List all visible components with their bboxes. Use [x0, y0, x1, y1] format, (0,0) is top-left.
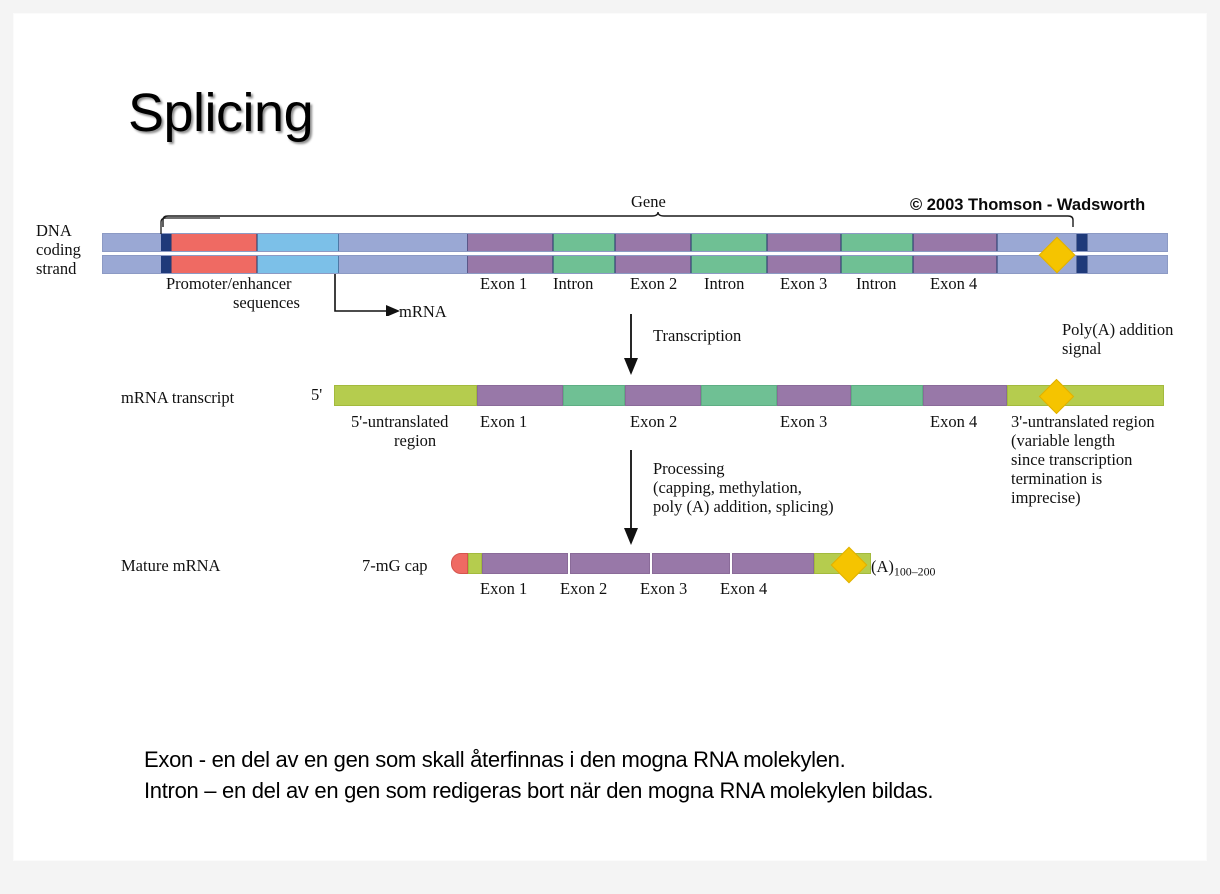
mrna-label-exon-3: Exon 3 — [780, 412, 827, 431]
polya-tail-subscript: 100–200 — [894, 564, 936, 578]
dna-segment-polya-bar — [1077, 233, 1087, 252]
mrna-segment-exon-2 — [625, 385, 701, 406]
dna-coding-strand-bottom — [102, 255, 1168, 274]
mature-label-exon-3: Exon 3 — [640, 579, 687, 598]
utr3-label-line1: 3'-untranslated region — [1011, 412, 1155, 431]
dna-label-intron-1: Intron — [553, 274, 593, 293]
dna-segment-promoter-b — [171, 255, 257, 274]
mrna-arrow-label: mRNA — [399, 302, 447, 321]
dna-segment-backbone-end-b — [1087, 255, 1168, 274]
polya-signal-label-line2: signal — [1062, 339, 1101, 358]
utr3-label-line5: imprecise) — [1011, 488, 1081, 507]
dna-segment-enhancer — [257, 233, 339, 252]
dna-segment-backbone-left — [103, 233, 161, 252]
mrna-label-exon-1: Exon 1 — [480, 412, 527, 431]
transcription-arrow — [622, 314, 644, 376]
dna-segment-exon-4-b — [913, 255, 997, 274]
mrna-segment-intron-3 — [851, 385, 923, 406]
dna-label-line2: coding — [36, 240, 81, 259]
slide-canvas: Splicing © 2003 Thomson - Wadsworth DNA … — [14, 14, 1206, 860]
dna-segment-exon-2 — [615, 233, 691, 252]
dna-segment-intron-1 — [553, 233, 615, 252]
dna-segment-exon-2-b — [615, 255, 691, 274]
promoter-label-line2: sequences — [233, 293, 300, 312]
five-prime-label: 5' — [311, 385, 322, 404]
mrna-label-exon-4: Exon 4 — [930, 412, 977, 431]
definition-intron: Intron – en del av en gen som redigeras … — [144, 778, 933, 804]
dna-segment-exon-3-b — [767, 255, 841, 274]
dna-label-line1: DNA — [36, 221, 72, 240]
transcription-label: Transcription — [653, 326, 741, 345]
promoter-label-line1: Promoter/enhancer — [166, 274, 292, 293]
dna-coding-strand-top — [102, 233, 1168, 252]
mrna-segment-exon-4 — [923, 385, 1007, 406]
dna-segment-exon-3 — [767, 233, 841, 252]
mrna-transcript-label: mRNA transcript — [121, 388, 234, 407]
dna-segment-enhancer-b — [257, 255, 339, 274]
dna-label-intron-2: Intron — [704, 274, 744, 293]
dna-label-exon-4: Exon 4 — [930, 274, 977, 293]
mrna-segment-exon-3 — [777, 385, 851, 406]
dna-segment-intron-2-b — [691, 255, 767, 274]
dna-label-line3: strand — [36, 259, 76, 278]
utr3-label-line4: termination is — [1011, 469, 1102, 488]
promoter-bracket — [160, 216, 338, 234]
mature-mrna-label: Mature mRNA — [121, 556, 220, 575]
mrna-segment-intron-2 — [701, 385, 777, 406]
dna-segment-transcription-start — [161, 233, 171, 252]
mature-label-exon-1: Exon 1 — [480, 579, 527, 598]
dna-segment-exon-1-b — [467, 255, 553, 274]
dna-label-exon-3: Exon 3 — [780, 274, 827, 293]
dna-segment-exon-1 — [467, 233, 553, 252]
mrna-segment-intron-1 — [563, 385, 625, 406]
cap-label: 7-mG cap — [362, 556, 428, 575]
mature-segment-exon-1 — [482, 553, 568, 574]
utr3-label-line2: (variable length — [1011, 431, 1115, 450]
mrna-segment-exon-1 — [477, 385, 563, 406]
definition-exon: Exon - en del av en gen som skall återfi… — [144, 747, 845, 773]
processing-label-line2: (capping, methylation, — [653, 478, 802, 497]
polya-signal-label-line1: Poly(A) addition — [1062, 320, 1173, 339]
page-title: Splicing — [128, 82, 313, 144]
processing-arrow — [622, 450, 644, 546]
dna-label-exon-2: Exon 2 — [630, 274, 677, 293]
mature-label-exon-4: Exon 4 — [720, 579, 767, 598]
dna-segment-intron-3-b — [841, 255, 913, 274]
mature-segment-cap-green — [468, 553, 482, 574]
dna-segment-intron-3 — [841, 233, 913, 252]
utr3-label-line3: since transcription — [1011, 450, 1132, 469]
gene-bracket-label: Gene — [631, 192, 666, 211]
mrna-segment-3utr — [1007, 385, 1164, 406]
mrna-label-exon-2: Exon 2 — [630, 412, 677, 431]
mature-segment-exon-3 — [652, 553, 730, 574]
dna-segment-intron-2 — [691, 233, 767, 252]
mrna-segment-5utr — [334, 385, 477, 406]
dna-label-intron-3: Intron — [856, 274, 896, 293]
dna-segment-exon-4 — [913, 233, 997, 252]
polya-tail-text: (A) — [871, 557, 894, 576]
dna-segment-polya-bar-b — [1077, 255, 1087, 274]
polya-tail-label: (A)100–200 — [871, 557, 935, 578]
utr5-label-line2: region — [394, 431, 436, 450]
dna-segment-intron-1-b — [553, 255, 615, 274]
processing-label-line3: poly (A) addition, splicing) — [653, 497, 834, 516]
dna-label-exon-1: Exon 1 — [480, 274, 527, 293]
mature-segment-exon-2 — [570, 553, 650, 574]
dna-segment-backbone-end — [1087, 233, 1168, 252]
processing-label-line1: Processing — [653, 459, 725, 478]
mature-label-exon-2: Exon 2 — [560, 579, 607, 598]
mature-segment-exon-4 — [732, 553, 814, 574]
dna-segment-backbone-left-b — [103, 255, 161, 274]
mature-mrna-bar — [451, 553, 871, 574]
dna-segment-transcription-start-b — [161, 255, 171, 274]
dna-segment-promoter — [171, 233, 257, 252]
utr5-label-line1: 5'-untranslated — [351, 412, 448, 431]
